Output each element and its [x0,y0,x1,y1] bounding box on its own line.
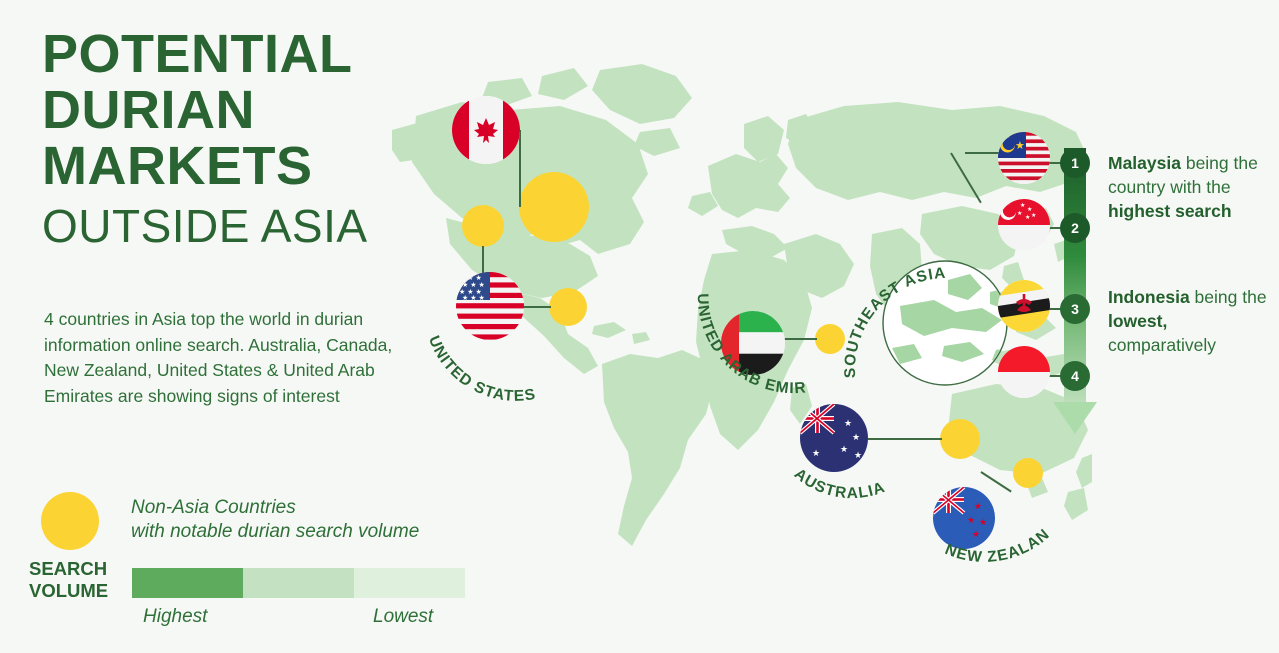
svg-text:★ ★ ★: ★ ★ ★ [462,294,485,302]
flag-new-zealand[interactable]: ★★ ★★ [933,487,995,549]
title-line-1: POTENTIAL [42,26,442,82]
connector-australia [868,438,942,440]
scale-swatch-mid [243,568,354,598]
rank-badge-1[interactable]: 1 [1060,148,1090,178]
title-line-2: DURIAN [42,82,442,138]
flag-singapore[interactable]: ★★ ★★ ★ [998,199,1050,251]
svg-text:★: ★ [840,444,848,454]
svg-text:★: ★ [812,448,820,458]
flag-australia[interactable]: ★★ ★★ ★ [800,404,868,472]
legend-scale-high-label: Highest [143,606,207,628]
legend-scale-label: SEARCH VOLUME [29,558,125,602]
rank-badge-3[interactable]: 3 [1060,294,1090,324]
bubble-united-states [549,288,587,326]
flag-united-states[interactable]: ★ ★ ★★ ★ ★ ★ ★ ★★ ★ ★ [456,272,524,340]
svg-text:★: ★ [974,501,982,511]
rank-badge-4[interactable]: 4 [1060,361,1090,391]
rank-badge-2[interactable]: 2 [1060,213,1090,243]
svg-text:★: ★ [979,517,987,527]
connector-canada [519,131,521,207]
bubble-new-zealand [1013,458,1043,488]
flag-brunei[interactable] [998,280,1050,332]
title-line-3: MARKETS [42,138,442,194]
legend-scale-low-label: Lowest [373,606,433,628]
page-title: POTENTIAL DURIAN MARKETS OUTSIDE ASIA [42,26,442,254]
svg-text:★: ★ [1017,210,1022,217]
ranking-arrow-icon [1053,402,1097,434]
bubble-australia [940,419,980,459]
svg-text:★ ★ ★: ★ ★ ★ [462,281,485,289]
rank-badge-4-number: 4 [1071,368,1079,384]
ranking-note-2: Indonesia being the lowest, comparativel… [1108,285,1270,357]
ranking-note-1: Malaysia being the country with the high… [1108,151,1270,223]
legend-bubble-swatch [41,492,99,550]
intro-paragraph: 4 countries in Asia top the world in dur… [44,307,419,409]
scale-swatch-highest [132,568,243,598]
svg-text:★: ★ [1027,206,1032,213]
rank-badge-2-number: 2 [1071,220,1079,236]
bubble-united-arab-emirates [815,324,845,354]
ranking-note-1-strong-2: highest search [1108,201,1232,221]
svg-text:★: ★ [1025,214,1030,221]
title-subtitle: OUTSIDE ASIA [42,198,442,254]
svg-text:★: ★ [967,515,975,525]
ranking-note-2-tail: comparatively [1108,335,1216,355]
bubble-canada-west [462,205,504,247]
svg-text:★: ★ [844,418,852,428]
svg-text:★: ★ [972,529,980,539]
svg-text:★: ★ [1031,212,1036,219]
svg-text:★: ★ [1015,140,1025,152]
ranking-note-2-strong-1: Indonesia [1108,287,1190,307]
svg-text:★: ★ [852,432,860,442]
flag-malaysia[interactable]: ★ [998,132,1050,184]
ranking-note-2-strong-2: lowest, [1108,311,1167,331]
rank-badge-3-number: 3 [1071,301,1079,317]
ranking-note-1-strong-1: Malaysia [1108,153,1181,173]
rank-badge-1-number: 1 [1071,155,1079,171]
ranking-note-2-mid: being the [1190,287,1267,307]
connector-united-arab-emirates [784,338,817,340]
flag-united-arab-emirates[interactable] [721,311,785,375]
svg-text:★: ★ [1020,202,1025,209]
bubble-canada-main [519,172,589,242]
flag-indonesia[interactable] [998,346,1050,398]
infographic-canvas: POTENTIAL DURIAN MARKETS OUTSIDE ASIA 4 … [0,0,1279,653]
flag-canada[interactable] [452,96,520,164]
svg-text:★: ★ [854,450,862,460]
